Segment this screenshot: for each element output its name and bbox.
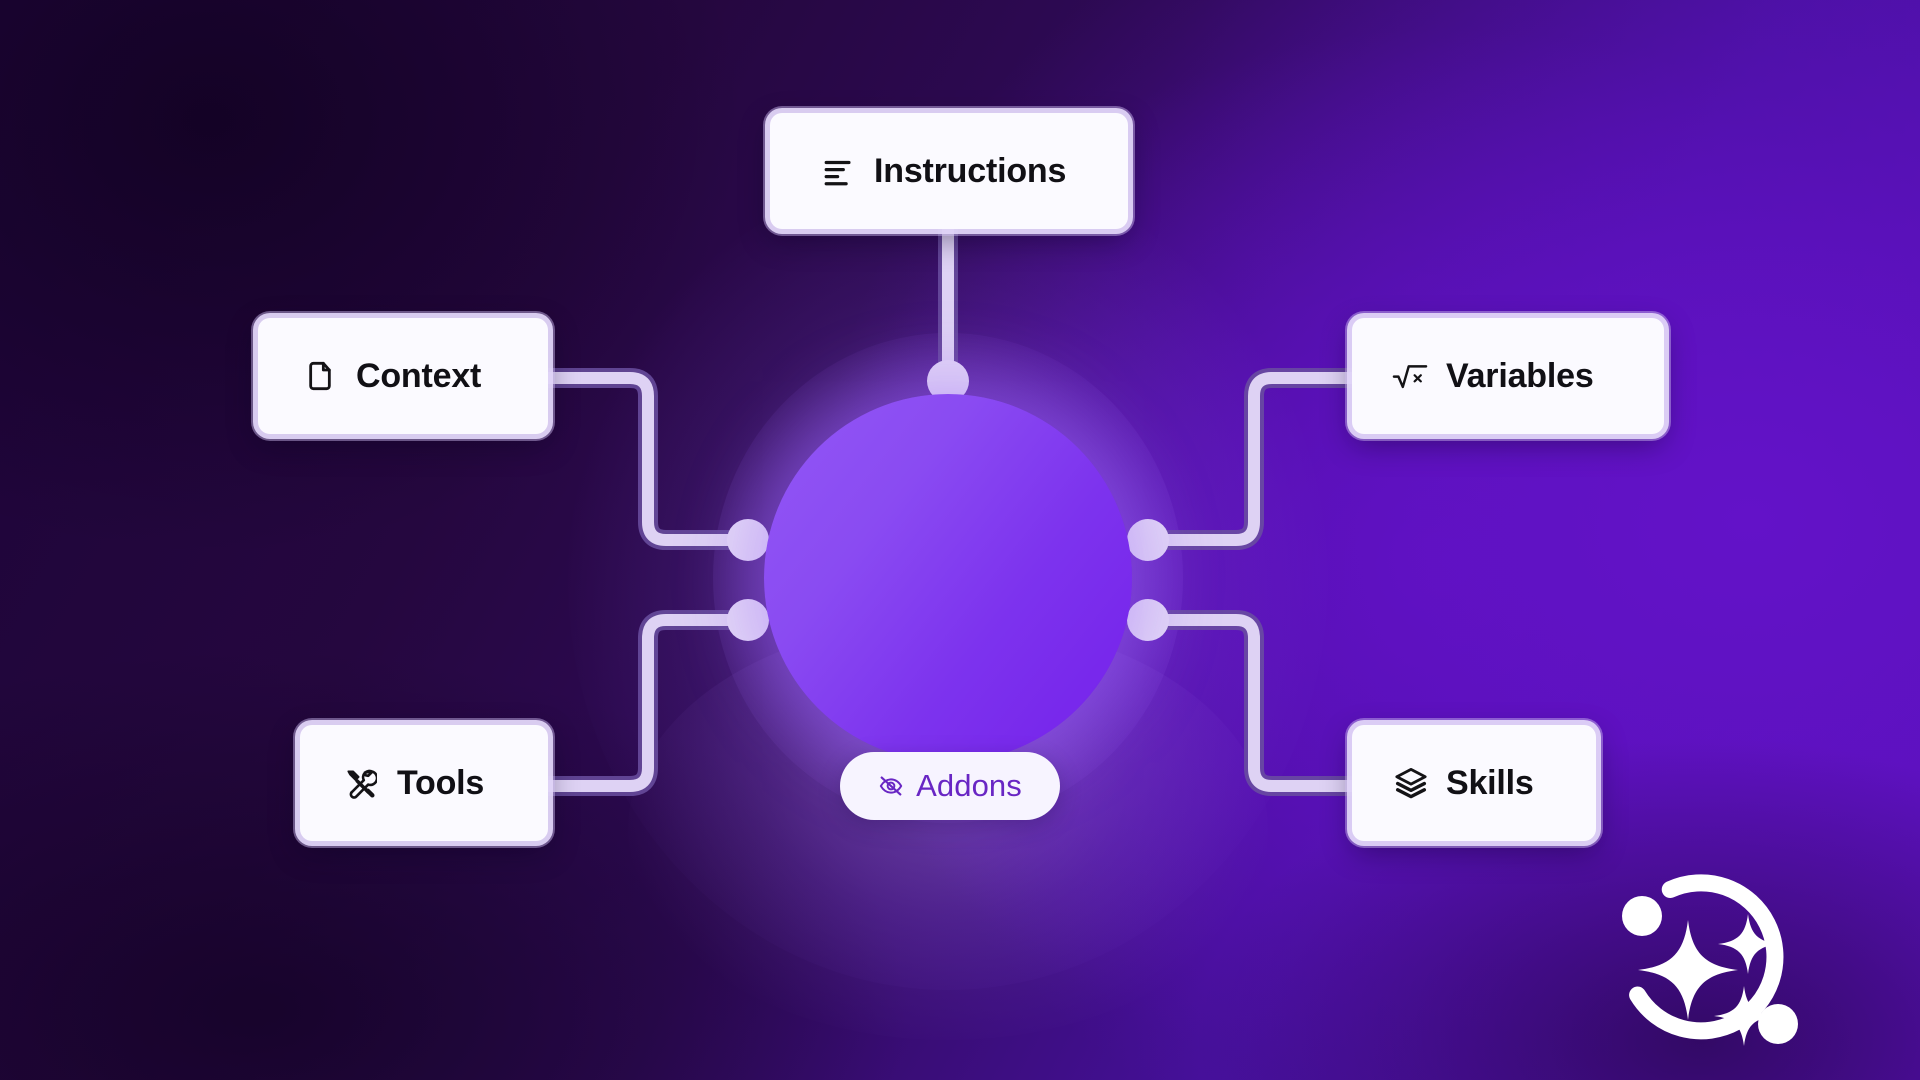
node-card-label: Instructions [874,152,1066,191]
connector-context [548,378,748,540]
node-card-label: Tools [397,764,484,803]
diagram-canvas: Instructions Context Tools [0,0,1920,1080]
node-dot-variables [1127,519,1169,561]
connector-tools [548,620,748,786]
node-card-variables[interactable]: Variables [1352,318,1664,434]
node-card-skills[interactable]: Skills [1352,725,1596,841]
addons-label: Addons [916,768,1022,804]
align-left-icon [822,154,856,188]
layers-icon [1394,766,1428,800]
ai-agent-hub[interactable] [764,394,1132,762]
node-dot-skills [1127,599,1169,641]
node-dot-context [727,519,769,561]
tools-icon [344,767,377,800]
file-icon [304,360,336,392]
node-card-label: Variables [1446,357,1594,396]
node-card-label: Skills [1446,764,1534,803]
node-dot-tools [727,599,769,641]
node-card-instructions[interactable]: Instructions [770,113,1128,229]
square-root-x-icon [1392,360,1428,392]
sparkle-orbit-icon [1592,852,1832,1080]
node-card-label: Context [356,357,481,396]
node-card-tools[interactable]: Tools [300,725,548,841]
connector-variables [1148,378,1352,540]
addons-badge[interactable]: Addons [840,752,1060,820]
node-card-context[interactable]: Context [258,318,548,434]
connector-skills [1148,620,1352,786]
eye-off-icon [878,773,904,799]
